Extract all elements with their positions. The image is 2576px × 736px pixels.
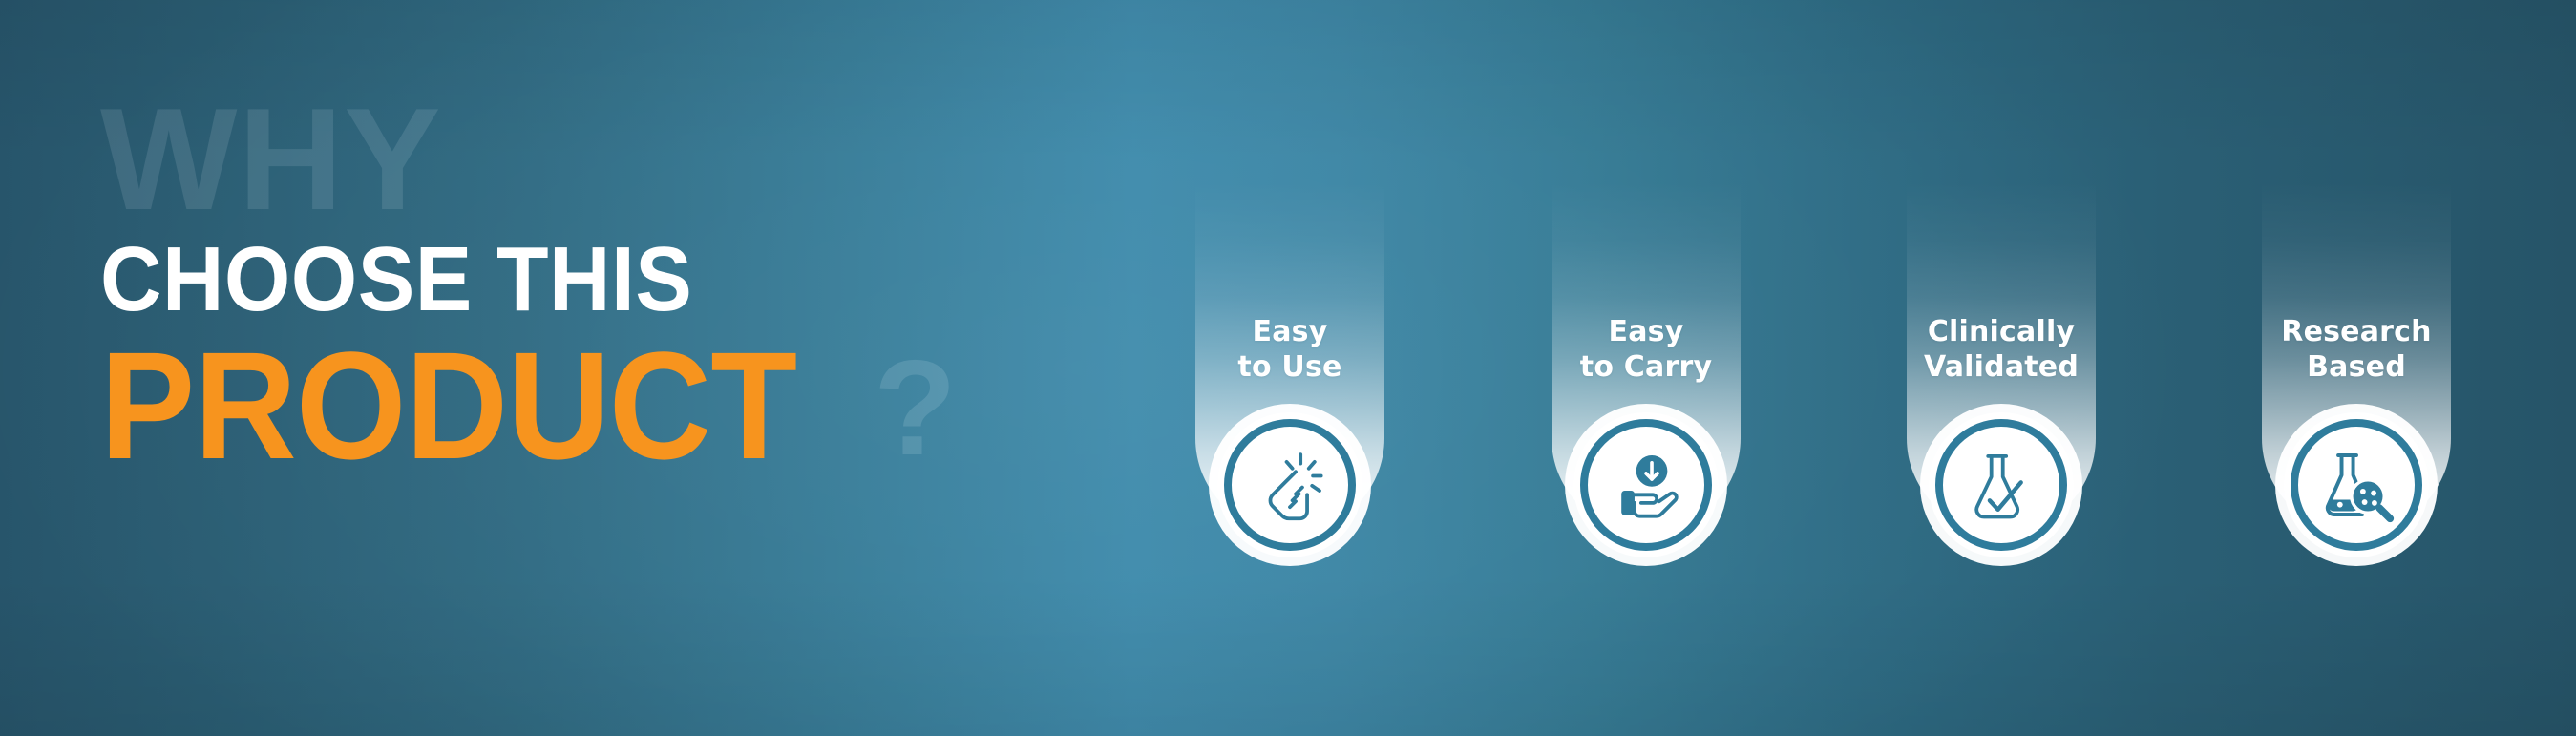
card-label-easy-to-use: Easy to Use [1195, 315, 1384, 385]
card-badge-research-based [2284, 412, 2429, 557]
flask-checkmark-icon [1960, 444, 2042, 526]
card-badge-clinically-validated [1929, 412, 2074, 557]
card-label-research-based: Research Based [2262, 315, 2451, 385]
tap-hand-icon [1249, 444, 1331, 526]
card-badge-easy-to-use [1217, 412, 1362, 557]
why-choose-product-banner: WHY CHOOSE THIS PRODUCT ? Easy to Use [0, 0, 2576, 736]
card-label-clinically-validated: Clinically Validated [1907, 315, 2096, 385]
question-mark-glyph: ? [874, 341, 957, 482]
headline-line-choose-this: CHOOSE THIS [100, 234, 1095, 326]
card-label-line2: to Use [1195, 350, 1384, 386]
feature-card-easy-to-use[interactable]: Easy to Use [1195, 181, 1384, 533]
card-label-line2: Based [2262, 350, 2451, 386]
card-label-line2: Validated [1907, 350, 2096, 386]
headline-block: WHY CHOOSE THIS PRODUCT ? [100, 92, 1170, 482]
headline-product-row: PRODUCT ? [100, 329, 1170, 482]
card-badge-easy-to-carry [1573, 412, 1719, 557]
feature-card-list: Easy to Use [1195, 181, 2456, 592]
headline-line-product: PRODUCT [100, 329, 796, 482]
card-label-line2: to Carry [1552, 350, 1741, 386]
card-label-line1: Research [2262, 315, 2451, 350]
watermark-why-text: WHY [100, 92, 1170, 228]
card-label-easy-to-carry: Easy to Carry [1552, 315, 1741, 385]
hand-holding-device-download-icon [1605, 444, 1687, 526]
feature-card-easy-to-carry[interactable]: Easy to Carry [1552, 181, 1741, 533]
card-label-line1: Easy [1195, 315, 1384, 350]
card-label-line1: Clinically [1907, 315, 2096, 350]
feature-card-clinically-validated[interactable]: Clinically Validated [1907, 181, 2096, 533]
flask-magnifier-icon [2315, 444, 2397, 526]
card-label-line1: Easy [1552, 315, 1741, 350]
feature-card-research-based[interactable]: Research Based [2262, 181, 2451, 533]
